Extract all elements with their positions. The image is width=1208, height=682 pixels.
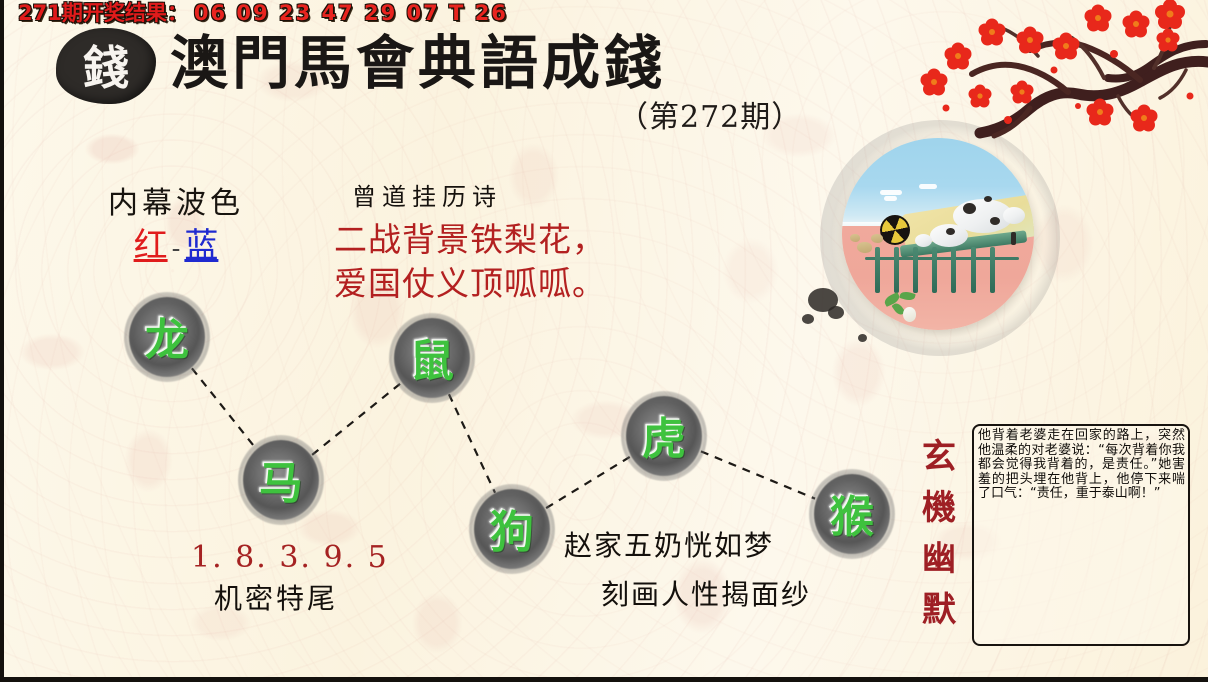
zodiac-node-马[interactable]: 马 — [243, 440, 319, 520]
zodiac-node-龙[interactable]: 龙 — [129, 297, 205, 377]
zodiac-node-鼠[interactable]: 鼠 — [394, 318, 470, 398]
inside-color-values: 红-蓝 — [108, 226, 244, 269]
zodiac-node-虎[interactable]: 虎 — [626, 396, 702, 476]
zodiac-label: 猴 — [814, 474, 890, 554]
cloud-icon — [884, 196, 897, 201]
illustration-disc — [842, 138, 1034, 330]
color-red: 红 — [134, 226, 168, 266]
fence-post — [932, 247, 937, 293]
ink-splatter — [828, 306, 844, 319]
ink-splatter — [802, 314, 814, 324]
poster-canvas: 271期开奖结果： 06 09 23 47 29 07 T 26 錢 澳門馬會典… — [0, 0, 1208, 682]
vertical-title-char-3: 默 — [919, 585, 959, 636]
cow-ear — [984, 196, 992, 202]
cow-leg — [1011, 232, 1016, 245]
calf-head — [915, 234, 932, 247]
poem-line-2: 爱国仗义顶呱呱。 — [334, 262, 606, 306]
cloud-icon — [880, 190, 902, 195]
issue-label: （第272期） — [618, 101, 802, 135]
zodiac-node-猴[interactable]: 猴 — [814, 474, 890, 554]
striped-ball-icon — [880, 215, 910, 245]
zodiac-label: 鼠 — [394, 318, 470, 398]
page-title: 澳門馬會典語成錢 — [170, 30, 666, 96]
zodiac-label: 虎 — [626, 396, 702, 476]
rock-shape — [857, 242, 872, 253]
poem-title: 曾道挂历诗 — [352, 182, 502, 212]
poem-body: 二战背景铁梨花， 爱国仗义顶呱呱。 — [334, 218, 606, 306]
round-illustration — [842, 138, 1034, 330]
inside-color-block: 内幕波色 红-蓝 — [108, 186, 244, 269]
joke-text: 他背着老婆走在回家的路上，突然他温柔的对老婆说：“每次背着你我都会觉得我背着的，… — [978, 429, 1185, 502]
zodiac-label: 马 — [243, 440, 319, 520]
inside-color-title: 内幕波色 — [108, 186, 244, 222]
zodiac-node-狗[interactable]: 狗 — [474, 489, 550, 569]
result-label: 271期开奖结果： — [18, 1, 188, 25]
fence-post — [913, 247, 918, 293]
couplet-line-1: 赵家五奶恍如梦 — [564, 529, 774, 563]
fence-post — [894, 247, 899, 293]
fence-post — [875, 247, 880, 293]
zodiac-label: 狗 — [474, 489, 550, 569]
secret-tail-label: 机密特尾 — [214, 582, 338, 616]
vertical-title-char-2: 幽 — [919, 534, 959, 585]
rock-shape — [871, 234, 883, 243]
fence-post — [971, 247, 976, 293]
cow-spot — [990, 217, 1000, 225]
fence-post — [990, 247, 995, 293]
color-separator: - — [172, 234, 181, 264]
couplet-line-2: 刻画人性揭面纱 — [601, 578, 811, 612]
calf-spot — [946, 228, 955, 235]
result-numbers: 06 09 23 47 29 07 T 26 — [194, 1, 508, 25]
vertical-section-title: 玄機幽默 — [919, 432, 959, 636]
fence-post — [951, 247, 956, 293]
cloud-icon — [919, 184, 937, 189]
brand-logo-glyph: 錢 — [56, 28, 156, 104]
vertical-title-char-1: 機 — [919, 483, 959, 534]
brand-logo: 錢 — [56, 28, 156, 104]
color-blue: 蓝 — [184, 226, 218, 266]
ink-splatter — [858, 334, 867, 342]
fence-bottom-rail — [865, 257, 1019, 260]
rock-shape — [850, 234, 860, 242]
joke-text-box: 他背着老婆走在回家的路上，突然他温柔的对老婆说：“每次背着你我都会觉得我背着的，… — [972, 424, 1190, 646]
vertical-title-char-0: 玄 — [919, 432, 959, 483]
result-banner: 271期开奖结果： 06 09 23 47 29 07 T 26 — [4, 0, 1208, 26]
zodiac-label: 龙 — [129, 297, 205, 377]
secret-tail-numbers: 1. 8. 3. 9. 5 — [191, 540, 389, 576]
poem-line-1: 二战背景铁梨花， — [334, 218, 606, 262]
